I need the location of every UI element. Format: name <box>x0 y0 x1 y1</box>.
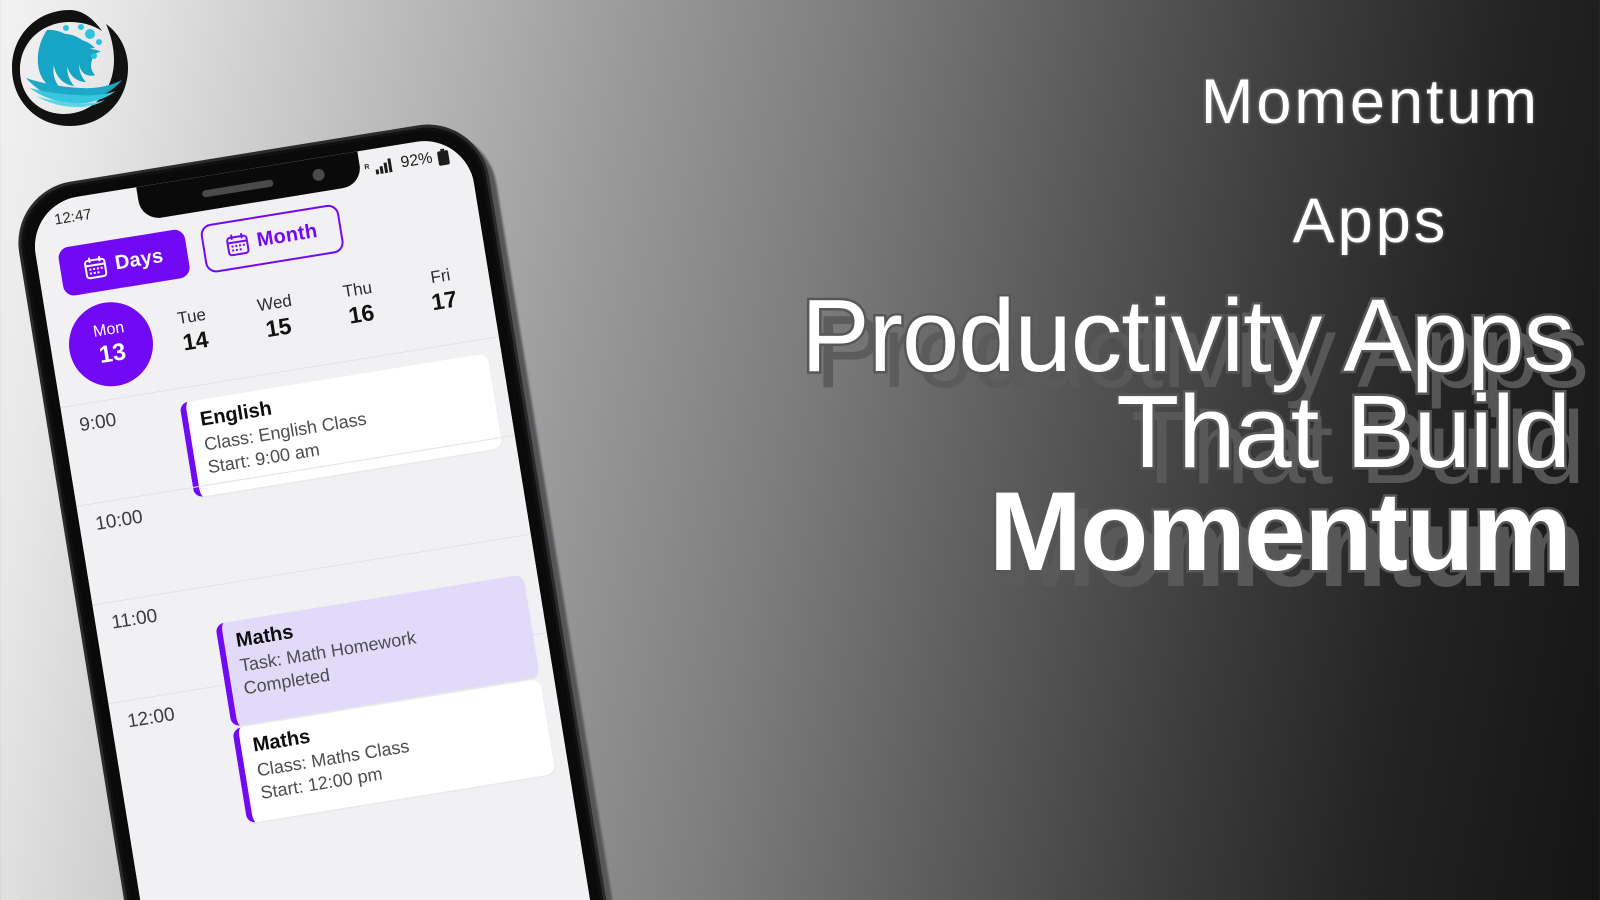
battery-percent-label: 92% <box>399 150 433 173</box>
day-timeline: 9:00 English Class: English Class Start:… <box>60 336 562 802</box>
day-item-tue[interactable]: Tue 14 <box>149 300 240 361</box>
day-date: 17 <box>430 286 460 317</box>
status-bar-time: 12:47 <box>53 205 93 228</box>
day-weekday: Fri <box>429 265 452 288</box>
day-date: 13 <box>97 338 128 370</box>
roaming-r-icon: R <box>363 162 373 176</box>
phone-mockup: 12:47 2 R 92% <box>0 95 660 900</box>
brand-name: Momentum Apps <box>1201 14 1540 310</box>
brand-logo <box>6 4 134 132</box>
calendar-icon <box>83 255 108 280</box>
phone-screen: 12:47 2 R 92% <box>28 134 602 900</box>
day-item-thu[interactable]: Thu 16 <box>314 274 405 335</box>
battery-icon <box>436 147 451 166</box>
wave-circle-logo-icon <box>6 4 134 132</box>
phone-body: 12:47 2 R 92% <box>9 115 620 900</box>
svg-text:R: R <box>364 163 370 171</box>
headline-line-1: Productivity Apps <box>560 288 1574 384</box>
day-date: 16 <box>347 299 377 330</box>
day-date: 15 <box>264 312 294 343</box>
signal-bars-icon <box>374 158 395 175</box>
time-slot-label: 12:00 <box>126 704 176 733</box>
front-camera-icon <box>312 168 326 182</box>
day-date: 14 <box>181 326 211 357</box>
time-slot-label: 11:00 <box>110 606 159 635</box>
day-item-mon[interactable]: Mon 13 <box>63 296 159 392</box>
day-item-wed[interactable]: Wed 15 <box>232 287 323 348</box>
brand-line-2: Apps <box>1201 192 1540 251</box>
month-view-label: Month <box>255 220 319 252</box>
days-view-label: Days <box>113 245 165 275</box>
earpiece-speaker-icon <box>202 179 274 197</box>
day-item-fri[interactable]: Fri 17 <box>397 260 488 321</box>
time-slot-events: Maths Task: Math Homework Completed Math… <box>225 636 549 784</box>
time-slot-label: 10:00 <box>94 507 144 536</box>
time-slot-label: 9:00 <box>78 410 118 438</box>
headline-line-2: That Build <box>560 384 1570 480</box>
app-content: Days <box>34 171 602 900</box>
calendar-icon <box>225 232 250 257</box>
headline-line-3: Momentum <box>560 480 1570 584</box>
brand-line-1: Momentum <box>1201 73 1540 132</box>
page-title: Productivity Apps That Build Momentum <box>560 288 1570 584</box>
